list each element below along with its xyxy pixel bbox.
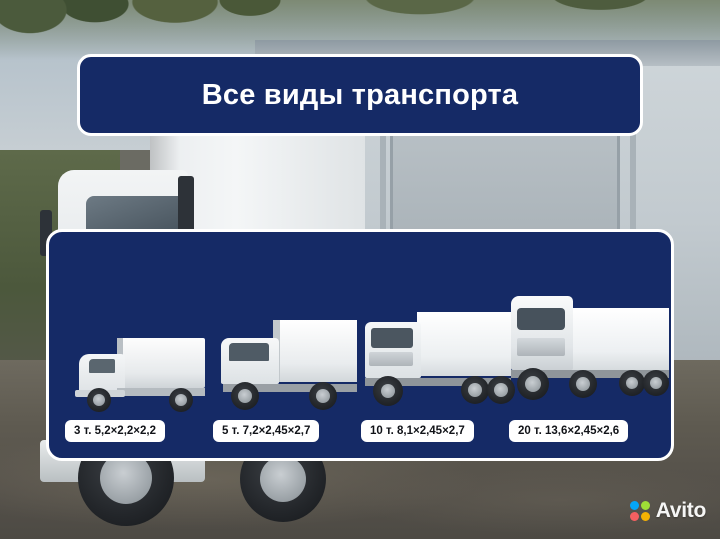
long-haul-trailer [571,308,669,370]
semi-front-hub [381,384,395,398]
avito-dot-red [630,512,639,521]
avito-logo-icon [630,501,650,521]
long-haul-trailer-hub-2 [650,377,662,389]
vehicle-spec-label-3: 10 т. 8,1×2,45×2,7 [361,420,474,442]
vehicle-spec-label-1: 3 т. 5,2×2,2×2,2 [65,420,165,442]
foreground-truck-rear-hub [260,456,306,502]
van-rear-hub [175,394,187,406]
long-haul-windshield [517,308,565,330]
vehicle-spec-label-4: 20 т. 13,6×2,45×2,6 [509,420,628,442]
semi-truck-graphic [361,308,509,412]
van-front-hub [93,394,105,406]
long-haul-front-hub [525,376,541,392]
medium-box-truck-illustration [213,246,361,412]
avito-dot-blue [630,501,639,510]
vehicle-item-1: 3 т. 5,2×2,2×2,2 [65,246,213,442]
truck-front-hub [238,389,252,403]
avito-dot-green [641,501,650,510]
vehicle-spec-label-2: 5 т. 7,2×2,45×2,7 [213,420,319,442]
headline-banner: Все виды транспорта [77,54,643,136]
truck-cargo-box [273,320,357,382]
long-haul-drive-hub [576,377,590,391]
medium-box-truck-graphic [217,320,357,412]
semi-grille [369,352,413,366]
semi-rear-hub-2 [494,383,508,397]
long-haul-truck-graphic [509,296,657,412]
semi-rear-hub [468,383,482,397]
screenshot-stage: Все виды транспорта [0,0,720,539]
small-box-van-graphic [73,338,205,412]
long-haul-trailer-hub [626,377,638,389]
avito-wordmark: Avito [656,499,706,523]
semi-trailer [417,312,511,376]
semi-windshield [371,328,413,348]
truck-rear-hub [316,389,330,403]
vehicle-list: 3 т. 5,2×2,2×2,2 5 т [49,232,671,458]
long-haul-truck-illustration [509,246,657,412]
small-box-van-illustration [65,246,213,412]
van-windshield [89,359,115,373]
vehicle-item-4: 20 т. 13,6×2,45×2,6 [509,246,657,442]
headline-text: Все виды транспорта [202,79,519,112]
van-cargo-box [117,338,205,388]
truck-windshield [229,343,269,361]
long-haul-grille [517,338,565,356]
avito-watermark: Avito [630,499,706,523]
semi-truck-illustration [361,246,509,412]
avito-dot-orange [641,512,650,521]
vehicle-panel: 3 т. 5,2×2,2×2,2 5 т [46,229,674,461]
vehicle-item-2: 5 т. 7,2×2,45×2,7 [213,246,361,442]
vehicle-item-3: 10 т. 8,1×2,45×2,7 [361,246,509,442]
